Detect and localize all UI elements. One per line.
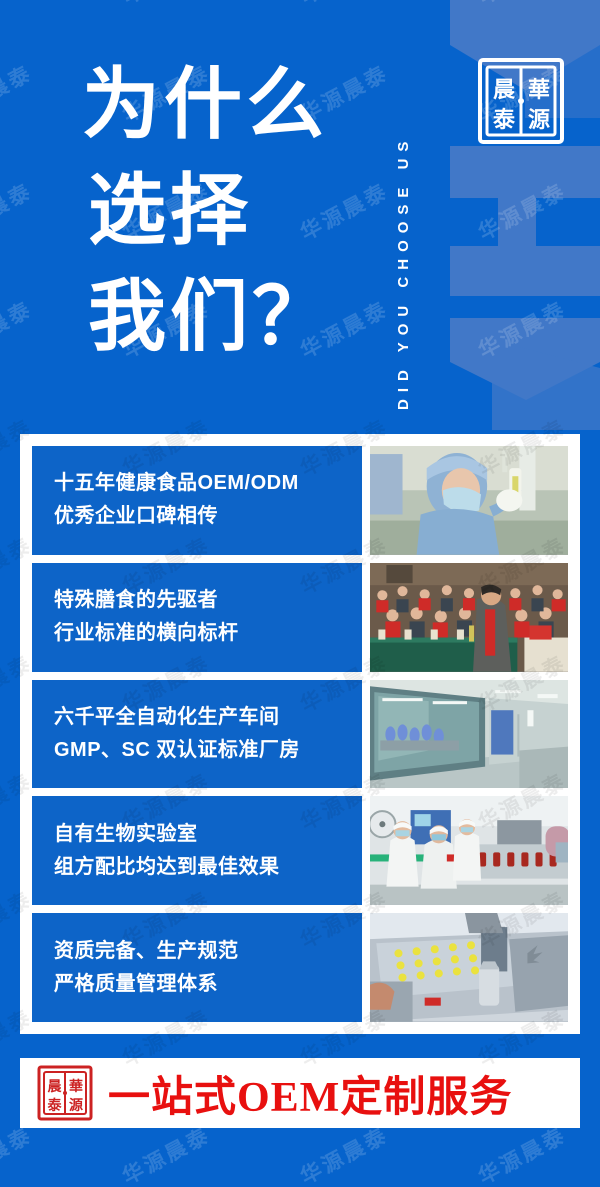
- svg-text:晨: 晨: [48, 1079, 63, 1095]
- lab-technician-photo: [370, 446, 568, 555]
- feature-line: 十五年健康食品OEM/ODM: [54, 467, 340, 500]
- page-title: 为什么 选择 我们？: [82, 52, 382, 370]
- feature-line: 资质完备、生产规范: [54, 935, 340, 968]
- feature-row: 十五年健康食品OEM/ODM 优秀企业口碑相传: [32, 446, 568, 555]
- feature-line: GMP、SC 双认证标准厂房: [54, 734, 340, 767]
- svg-text:華: 華: [69, 1078, 83, 1095]
- feature-text-block-4: 自有生物实验室 组方配比均达到最佳效果: [32, 796, 362, 905]
- header-section: 为什么 选择 我们？ DID YOU CHOOSE US 晨 華 泰 源: [0, 0, 600, 430]
- production-line-workers-photo: [370, 796, 568, 905]
- feature-row: 六千平全自动化生产车间 GMP、SC 双认证标准厂房: [32, 680, 568, 789]
- feature-text-block-3: 六千平全自动化生产车间 GMP、SC 双认证标准厂房: [32, 680, 362, 789]
- feature-text-block-1: 十五年健康食品OEM/ODM 优秀企业口碑相传: [32, 446, 362, 555]
- feature-row: 资质完备、生产规范 严格质量管理体系: [32, 913, 568, 1022]
- poster-root: 为什么 选择 我们？ DID YOU CHOOSE US 晨 華 泰 源: [0, 0, 600, 1187]
- svg-text:晨: 晨: [493, 77, 516, 102]
- feature-row: 自有生物实验室 组方配比均达到最佳效果: [32, 796, 568, 905]
- feature-row: 特殊膳食的先驱者 行业标准的横向标杆: [32, 563, 568, 672]
- bottom-banner: 晨 華 泰 源 一站式OEM定制服务: [20, 1058, 580, 1128]
- watermark-text: 华源晨泰: [473, 1119, 572, 1187]
- company-seal-icon: 晨 華 泰 源: [475, 55, 567, 147]
- feature-line: 六千平全自动化生产车间: [54, 701, 340, 734]
- feature-line: 自有生物实验室: [54, 818, 340, 851]
- blister-packaging-photo: [370, 913, 568, 1022]
- feature-line: 严格质量管理体系: [54, 968, 340, 1001]
- svg-text:華: 華: [528, 77, 550, 102]
- svg-text:源: 源: [528, 107, 550, 132]
- watermark-text: 华源晨泰: [117, 1119, 216, 1187]
- feature-line: 特殊膳食的先驱者: [54, 584, 340, 617]
- feature-text-block-5: 资质完备、生产规范 严格质量管理体系: [32, 913, 362, 1022]
- feature-text-block-2: 特殊膳食的先驱者 行业标准的横向标杆: [32, 563, 362, 672]
- feature-line: 优秀企业口碑相传: [54, 500, 340, 533]
- feature-line: 组方配比均达到最佳效果: [54, 851, 340, 884]
- title-line-1: 为什么: [82, 52, 382, 158]
- feature-line: 行业标准的横向标杆: [54, 617, 340, 650]
- conference-audience-photo: [370, 563, 568, 672]
- title-line-3: 我们？: [82, 264, 382, 370]
- title-line-2: 选择: [82, 158, 382, 264]
- company-seal-red-icon: 晨 華 泰 源: [36, 1064, 94, 1122]
- svg-text:源: 源: [69, 1097, 83, 1114]
- svg-text:泰: 泰: [492, 107, 516, 132]
- vertical-english-subtitle: DID YOU CHOOSE US: [395, 20, 429, 410]
- features-frame: 十五年健康食品OEM/ODM 优秀企业口碑相传: [20, 434, 580, 1034]
- cleanroom-corridor-photo: [370, 680, 568, 789]
- watermark-text: 华源晨泰: [295, 1119, 394, 1187]
- watermark-text: 华源晨泰: [0, 1119, 37, 1187]
- svg-text:泰: 泰: [47, 1097, 63, 1114]
- banner-slogan: 一站式OEM定制服务: [108, 1063, 512, 1124]
